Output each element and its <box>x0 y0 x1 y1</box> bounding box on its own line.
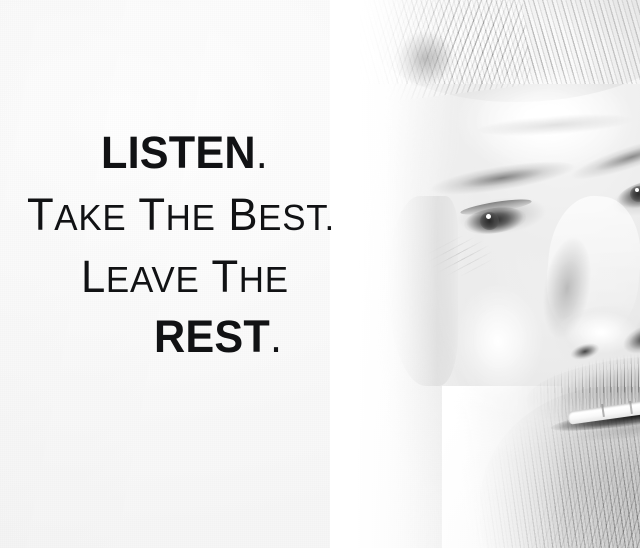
take-lead-letter: T <box>27 189 54 240</box>
quote-line-listen: LISTEN. <box>101 130 268 175</box>
the2-lead-letter: T <box>211 251 238 302</box>
quote-text-block: LISTEN. TAKE THE BEST. LEAVE THE REST. <box>0 0 395 548</box>
space <box>216 189 229 240</box>
quote-line-rest: REST. <box>154 314 282 359</box>
take-rest-letters: AKE <box>54 197 126 238</box>
the2-rest-letters: HE <box>239 259 289 300</box>
quote-line-leave-the: LEAVE THE <box>81 254 289 299</box>
rest-lead-letter: R <box>154 311 185 362</box>
listen-lead-letter: L <box>101 127 128 178</box>
space <box>200 251 212 302</box>
quote-line-take-the-best: TAKE THE BEST. <box>27 192 335 237</box>
catchlight-right <box>635 188 639 192</box>
best-rest-letters: EST <box>258 197 324 238</box>
listen-rest-letters: ISTEN <box>128 127 256 178</box>
space <box>126 189 138 240</box>
listen-period: . <box>256 127 268 178</box>
leave-lead-letter: L <box>81 251 106 302</box>
rest-period: . <box>270 311 282 362</box>
the-rest-letters: HE <box>166 197 216 238</box>
best-period: . <box>325 197 335 238</box>
the-lead-letter: T <box>138 189 165 240</box>
rest-rest-letters: EST <box>185 311 270 362</box>
best-lead-letter: B <box>228 189 258 240</box>
catchlight-left <box>486 214 491 219</box>
leave-rest-letters: EAVE <box>106 259 200 300</box>
quote-poster: LISTEN. TAKE THE BEST. LEAVE THE REST. <box>0 0 640 548</box>
